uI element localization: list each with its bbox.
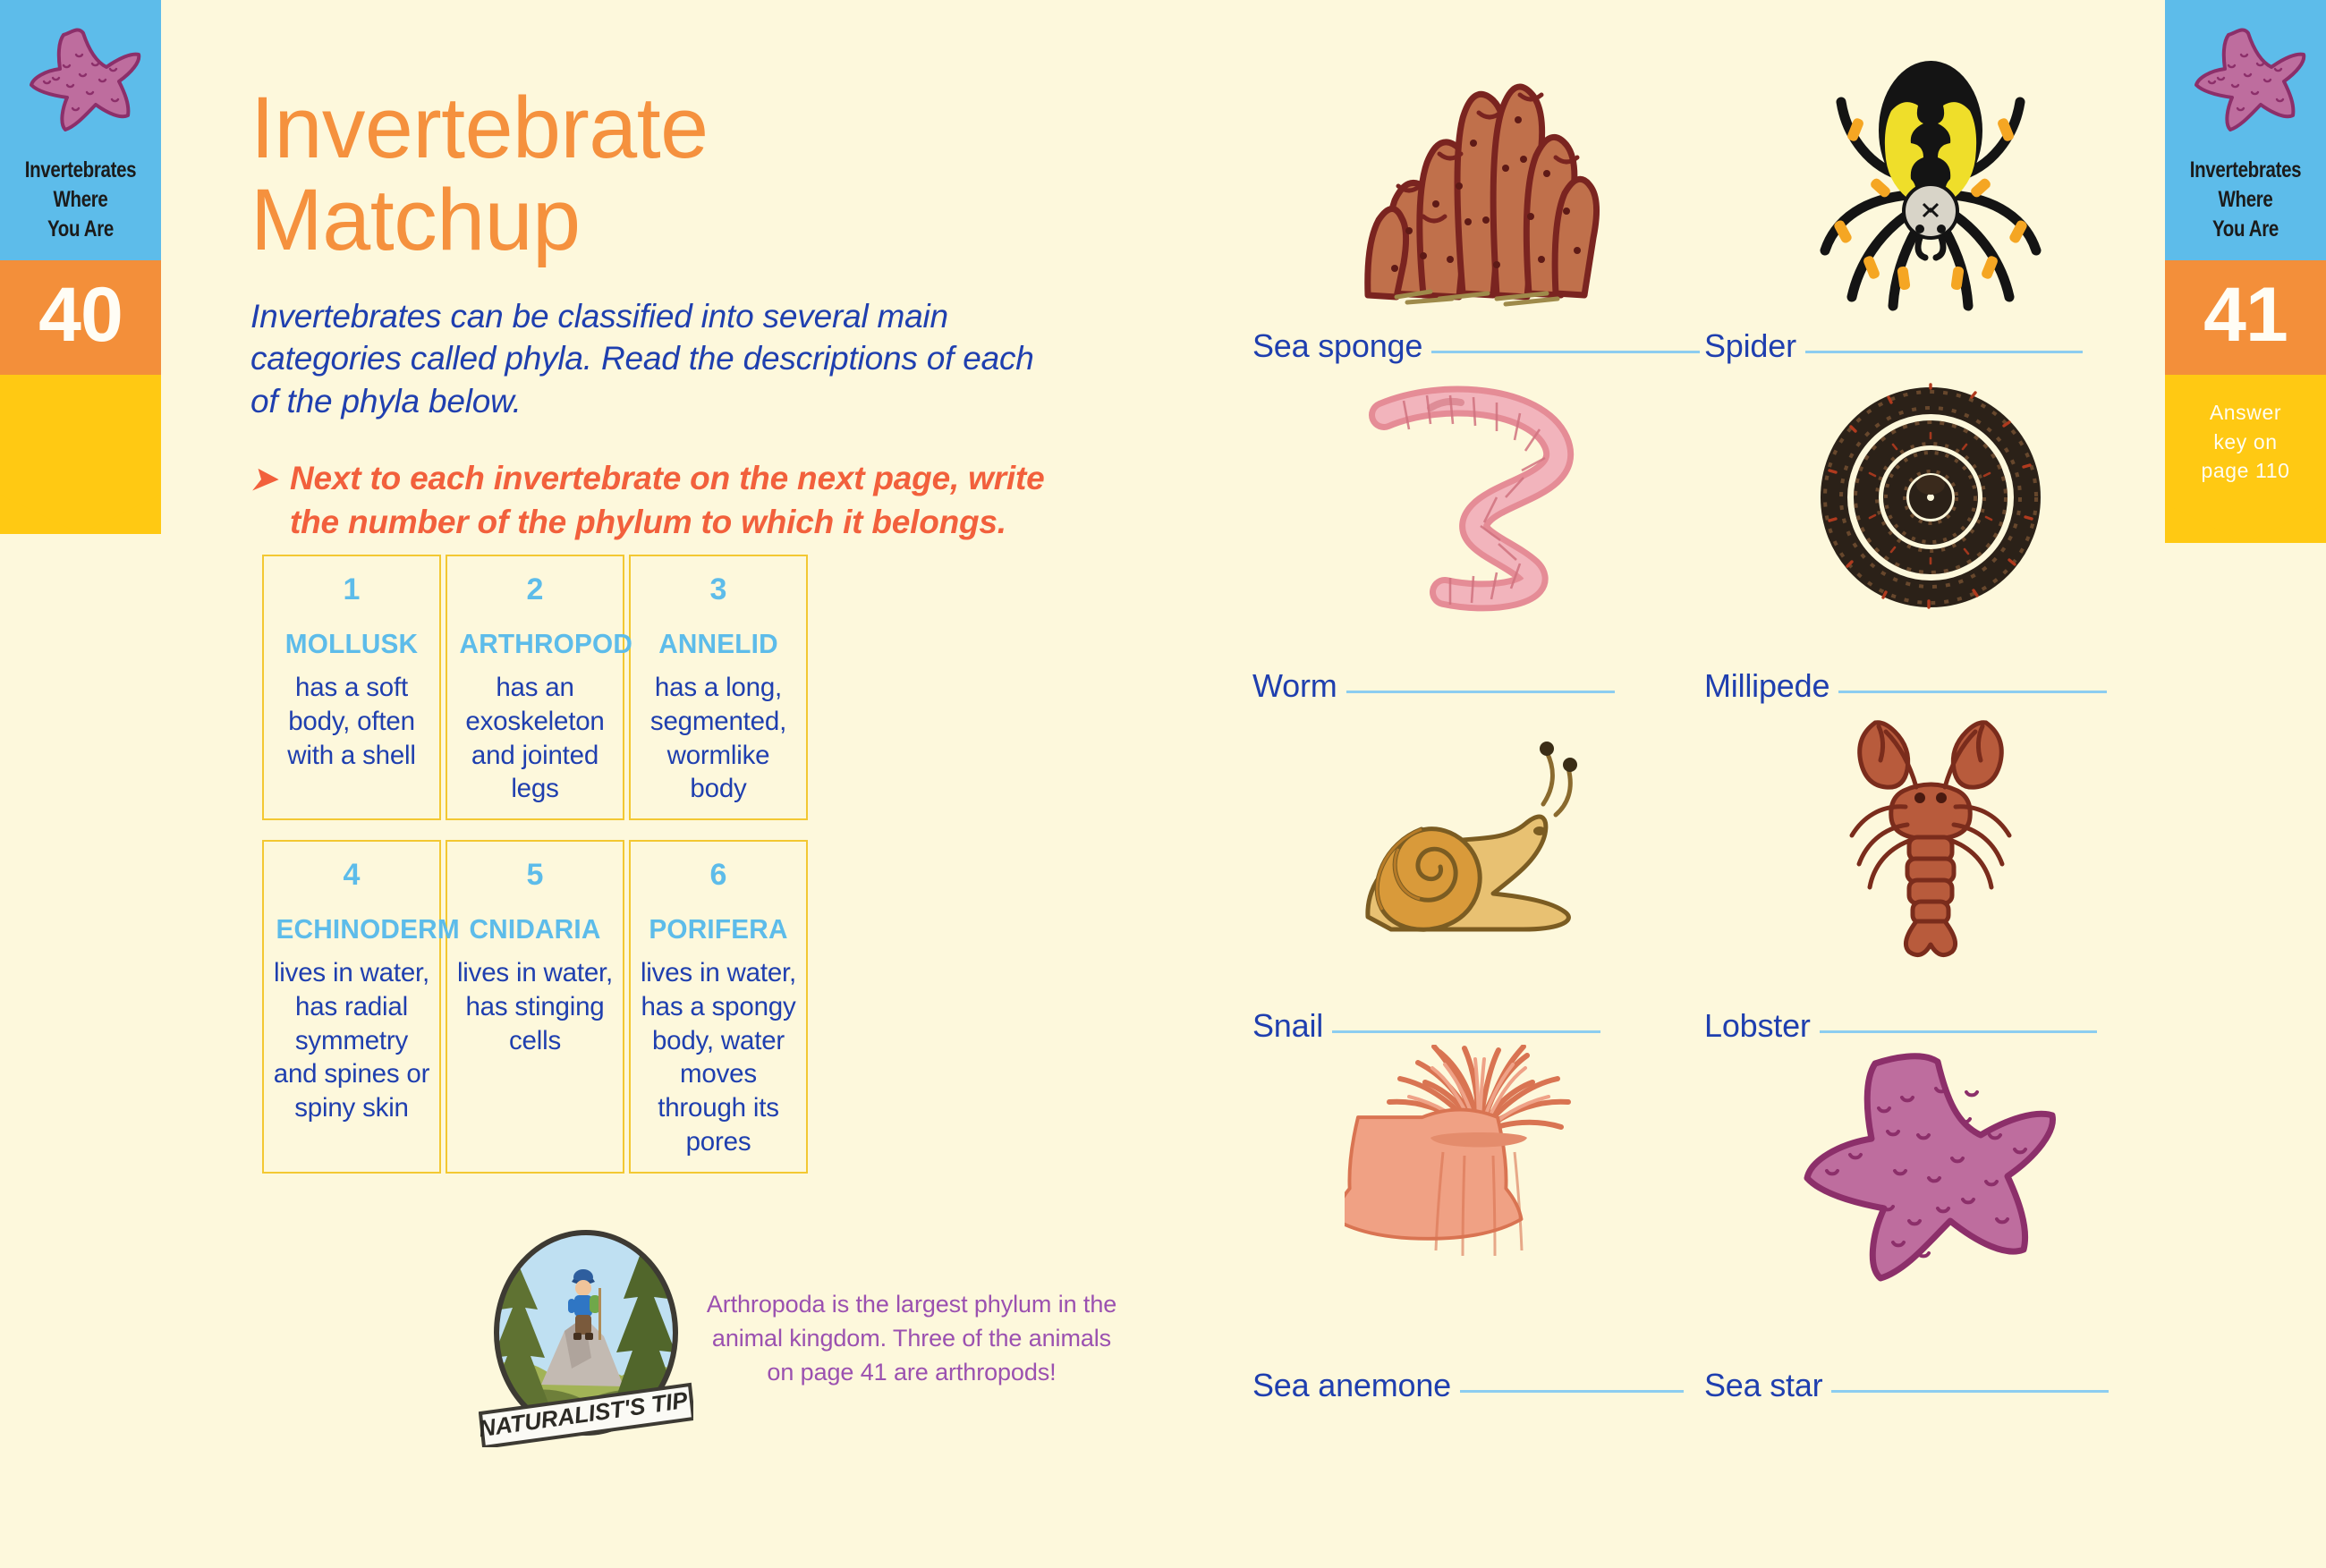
phylum-number: 2 [456, 574, 614, 605]
animal-item-sea-anemone: Sea anemone [1252, 1045, 1704, 1404]
sea-star-icon [1704, 1045, 2156, 1313]
answer-blank-sea-anemone[interactable] [1460, 1390, 1684, 1393]
right-tab-notch-icon [2165, 495, 2326, 543]
phylum-description: lives in water, has stinging cells [456, 956, 614, 1057]
answer-key-line1: Answer [2174, 398, 2317, 428]
phylum-number: 6 [640, 860, 797, 890]
intro-block: Invertebrates can be classified into sev… [250, 295, 1056, 544]
phylum-number: 4 [273, 860, 430, 890]
page-title: Invertebrate Matchup [250, 82, 709, 267]
animal-name: Sea anemone [1252, 1367, 1451, 1404]
animal-name: Snail [1252, 1007, 1323, 1045]
animal-answer-grid: Sea sponge [1252, 25, 2156, 1404]
animal-name: Sea star [1704, 1367, 1822, 1404]
lobster-icon [1704, 705, 2156, 973]
right-page-number-band: 41 [2165, 260, 2326, 375]
animal-label-spider: Spider [1704, 327, 2156, 365]
sea-star-icon [2172, 21, 2319, 156]
sea-sponge-icon [1252, 25, 1704, 320]
phylum-name: CNIDARIA [460, 913, 611, 945]
naturalist-tip-badge-icon: NATURALIST'S TIP [479, 1224, 693, 1447]
task-instruction-block: ➤ Next to each invertebrate on the next … [250, 456, 1056, 544]
naturalist-tip-text: Arthropoda is the largest phylum in the … [700, 1282, 1123, 1390]
answer-blank-spider[interactable] [1805, 351, 2083, 353]
intro-paragraph: Invertebrates can be classified into sev… [250, 295, 1056, 422]
left-tab-label-line2: Where [21, 185, 140, 215]
millipede-icon [1704, 365, 2156, 633]
animal-label-lobster: Lobster [1704, 1007, 2156, 1045]
phylum-name: ARTHROPOD [460, 628, 611, 660]
sea-anemone-icon [1252, 1045, 1704, 1313]
left-tab-header: Invertebrates Where You Are [0, 0, 161, 260]
right-tab-label-line1: Invertebrates [2186, 156, 2305, 185]
animal-label-sea-anemone: Sea anemone [1252, 1367, 1704, 1404]
right-tab-label-line3: You Are [2186, 215, 2305, 244]
phylum-card-4[interactable]: 4 ECHINODERM lives in water, has radial … [262, 840, 441, 1174]
phylum-name: MOLLUSK [276, 628, 428, 660]
phylum-description: has a soft body, often with a shell [273, 671, 430, 772]
phylum-card-6[interactable]: 6 PORIFERA lives in water, has a spongy … [629, 840, 808, 1174]
phylum-card-1[interactable]: 1 MOLLUSK has a soft body, often with a … [262, 555, 441, 820]
animal-label-sea-star: Sea star [1704, 1367, 2156, 1404]
answer-key-ribbon: Answer key on page 110 [2165, 375, 2326, 543]
phylum-description: lives in water, has a spongy body, water… [640, 956, 797, 1159]
right-tab-label-line2: Where [2186, 185, 2305, 215]
left-tab-label-line3: You Are [21, 215, 140, 244]
animal-label-worm: Worm [1252, 667, 1704, 705]
animal-name: Worm [1252, 667, 1337, 705]
animal-label-millipede: Millipede [1704, 667, 2156, 705]
left-page-number-band: 40 [0, 260, 161, 375]
sea-star-icon [7, 21, 154, 156]
answer-blank-sea-star[interactable] [1831, 1390, 2109, 1393]
animal-name: Sea sponge [1252, 327, 1422, 365]
right-page-tab: Invertebrates Where You Are 41 Answer ke… [2165, 0, 2326, 543]
answer-blank-lobster[interactable] [1820, 1030, 2097, 1033]
phylum-number: 3 [640, 574, 797, 605]
worksheet-spread: Invertebrates Where You Are 40 [0, 0, 2326, 1568]
answer-key-line2: key on [2174, 428, 2317, 457]
animal-item-worm: Worm [1252, 365, 1704, 705]
animal-name: Lobster [1704, 1007, 1811, 1045]
phylum-number: 1 [273, 574, 430, 605]
phylum-number: 5 [456, 860, 614, 890]
answer-key-line3: page 110 [2174, 456, 2317, 486]
right-page: Sea sponge [1244, 0, 2165, 1568]
task-instruction: Next to each invertebrate on the next pa… [290, 460, 1044, 540]
left-tab-notch-icon [0, 486, 161, 534]
answer-blank-sea-sponge[interactable] [1431, 351, 1700, 353]
page-title-line2: Matchup [250, 174, 709, 267]
left-tab-ribbon [0, 375, 161, 534]
animal-item-spider: Spider [1704, 25, 2156, 365]
animal-label-snail: Snail [1252, 1007, 1704, 1045]
snail-icon [1252, 705, 1704, 973]
animal-name: Millipede [1704, 667, 1829, 705]
phylum-description: lives in water, has radial symmetry and … [273, 956, 430, 1125]
right-page-number: 41 [2169, 276, 2322, 353]
phylum-description: has a long, segmented, wormlike body [640, 671, 797, 806]
page-title-line1: Invertebrate [250, 82, 709, 174]
phylum-name: ECHINODERM [276, 913, 428, 945]
left-tab-ribbon-text [0, 375, 161, 486]
phylum-description: has an exoskeleton and jointed legs [456, 671, 614, 806]
spider-icon [1704, 25, 2156, 320]
phylum-name: ANNELID [643, 628, 794, 660]
phylum-card-5[interactable]: 5 CNIDARIA lives in water, has stinging … [446, 840, 624, 1174]
animal-item-millipede: Millipede [1704, 365, 2156, 705]
left-page-number: 40 [4, 276, 157, 353]
left-page-tab: Invertebrates Where You Are 40 [0, 0, 161, 534]
left-page: Invertebrate Matchup Invertebrates can b… [161, 0, 1154, 1568]
phylum-name: PORIFERA [643, 913, 794, 945]
naturalist-tip: NATURALIST'S TIP Arthropoda is the large… [479, 1224, 1123, 1447]
answer-blank-worm[interactable] [1346, 691, 1615, 693]
animal-item-lobster: Lobster [1704, 705, 2156, 1045]
animal-label-sea-sponge: Sea sponge [1252, 327, 1704, 365]
phylum-card-2[interactable]: 2 ARTHROPOD has an exoskeleton and joint… [446, 555, 624, 820]
animal-item-snail: Snail [1252, 705, 1704, 1045]
animal-item-sea-sponge: Sea sponge [1252, 25, 1704, 365]
arrow-right-icon: ➤ [250, 459, 276, 501]
animal-name: Spider [1704, 327, 1796, 365]
phylum-card-3[interactable]: 3 ANNELID has a long, segmented, wormlik… [629, 555, 808, 820]
earthworm-icon [1252, 365, 1704, 633]
right-tab-header: Invertebrates Where You Are [2165, 0, 2326, 260]
answer-key-ribbon-text: Answer key on page 110 [2165, 375, 2326, 495]
answer-blank-millipede[interactable] [1838, 691, 2107, 693]
animal-item-sea-star: Sea star [1704, 1045, 2156, 1404]
left-tab-label-line1: Invertebrates [21, 156, 140, 185]
answer-blank-snail[interactable] [1332, 1030, 1600, 1033]
phyla-legend: 1 MOLLUSK has a soft body, often with a … [262, 555, 808, 1174]
